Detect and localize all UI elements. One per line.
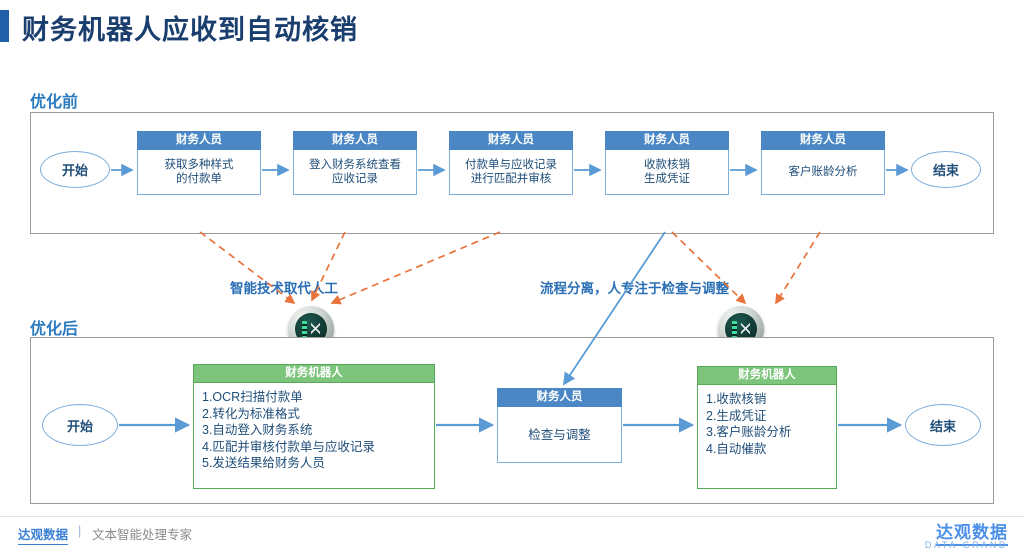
before-step-4-role: 财务人员	[605, 131, 729, 150]
after-robot-box-1-role: 财务机器人	[193, 364, 435, 383]
slide-canvas: 财务机器人应收到自动核销 优化前 开始 财务人员 获取多种样式 的付款单 财务人…	[0, 0, 1024, 555]
before-step-3-role: 财务人员	[449, 131, 573, 150]
after-robot-box-1-item-1: 1.OCR扫描付款单	[202, 389, 434, 406]
after-robot-box-1-item-2: 2.转化为标准格式	[202, 406, 434, 423]
after-human-box-task: 检查与调整	[528, 428, 591, 442]
after-robot-box-2-item-3: 3.客户账龄分析	[706, 424, 836, 441]
arrow-dashed-right-b	[776, 232, 820, 303]
footer-brand: 达观数据	[18, 524, 68, 545]
after-robot-box-2[interactable]: 财务机器人 1.收款核销 2.生成凭证 3.客户账龄分析 4.自动催款	[697, 366, 837, 486]
after-start-label: 开始	[67, 416, 93, 435]
before-step-5[interactable]: 财务人员 客户账龄分析	[761, 131, 885, 193]
title-accent-bar	[0, 10, 9, 42]
after-end-label: 结束	[930, 416, 956, 435]
section-label-before: 优化前	[30, 88, 78, 112]
before-step-2-role: 财务人员	[293, 131, 417, 150]
before-step-1-role: 财务人员	[137, 131, 261, 150]
after-robot-box-1-item-4: 4.匹配并审核付款单与应收记录	[202, 439, 434, 456]
after-robot-box-1[interactable]: 财务机器人 1.OCR扫描付款单 2.转化为标准格式 3.自动登入财务系统 4.…	[193, 364, 435, 486]
before-end-terminator: 结束	[911, 151, 981, 188]
after-human-box[interactable]: 财务人员 检查与调整	[497, 388, 622, 461]
before-end-label: 结束	[933, 160, 959, 179]
before-step-2[interactable]: 财务人员 登入财务系统查看 应收记录	[293, 131, 417, 193]
before-step-5-task: 客户账龄分析	[789, 165, 858, 179]
before-step-3-task: 付款单与应收记录 进行匹配并审核	[465, 158, 557, 186]
footer-tagline: 文本智能处理专家	[92, 524, 192, 543]
after-robot-box-2-role: 财务机器人	[697, 366, 837, 385]
before-step-1[interactable]: 财务人员 获取多种样式 的付款单	[137, 131, 261, 193]
after-robot-box-1-item-5: 5.发送结果给财务人员	[202, 455, 434, 472]
before-step-5-role: 财务人员	[761, 131, 885, 150]
footer-separator: |	[78, 524, 81, 538]
before-step-3[interactable]: 财务人员 付款单与应收记录 进行匹配并审核	[449, 131, 573, 193]
footer-divider	[0, 516, 1024, 517]
before-step-4-task: 收款核销 生成凭证	[644, 158, 690, 186]
before-step-4[interactable]: 财务人员 收款核销 生成凭证	[605, 131, 729, 193]
page-title: 财务机器人应收到自动核销	[22, 8, 358, 47]
arrow-dashed-left-c	[332, 232, 500, 303]
after-robot-box-1-item-3: 3.自动登入财务系统	[202, 422, 434, 439]
section-label-after: 优化后	[30, 315, 78, 339]
before-start-label: 开始	[62, 160, 88, 179]
logo-english: DATA GRAND	[925, 540, 1008, 550]
after-human-box-role: 财务人员	[497, 388, 622, 407]
after-start-terminator: 开始	[42, 404, 118, 446]
after-robot-box-2-item-2: 2.生成凭证	[706, 408, 836, 425]
after-robot-box-2-item-1: 1.收款核销	[706, 391, 836, 408]
before-step-1-task: 获取多种样式 的付款单	[165, 158, 234, 186]
after-robot-box-2-item-4: 4.自动催款	[706, 441, 836, 458]
annotation-right: 流程分离，人专注于检查与调整	[540, 277, 729, 297]
after-end-terminator: 结束	[905, 404, 981, 446]
before-step-2-task: 登入财务系统查看 应收记录	[309, 158, 401, 186]
annotation-left: 智能技术取代人工	[230, 277, 338, 297]
before-start-terminator: 开始	[40, 151, 110, 188]
